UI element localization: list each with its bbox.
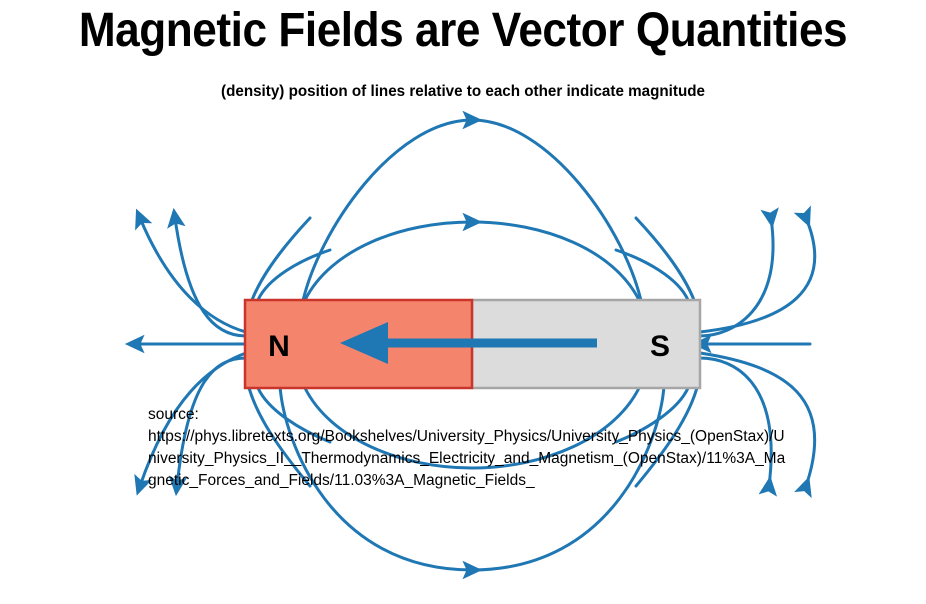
field-line-upper-right-1	[700, 218, 815, 332]
magnet-north-label: N	[268, 330, 290, 363]
magnetic-field-diagram: N S	[0, 100, 926, 604]
bar-magnet: N S	[245, 300, 700, 388]
page-title: Magnetic Fields are Vector Quantities	[37, 2, 889, 60]
field-line-upper-right-3	[636, 218, 698, 312]
magnet-south-label: S	[650, 330, 670, 363]
field-line-upper-left-1	[140, 218, 246, 332]
source-label: source:	[148, 404, 788, 426]
figure-subtitle: (density) position of lines relative to …	[23, 82, 903, 102]
field-line-upper-left-2	[175, 218, 246, 336]
field-line-upper-left-3	[248, 218, 310, 312]
field-line-top-outer-left	[302, 120, 472, 305]
source-citation: source: https://phys.libretexts.org/Book…	[148, 404, 788, 492]
field-line-top-outer-right	[472, 120, 642, 305]
magnetic-field-figure-page: Magnetic Fields are Vector Quantities (d…	[0, 0, 926, 604]
source-url: https://phys.libretexts.org/Bookshelves/…	[148, 426, 788, 492]
